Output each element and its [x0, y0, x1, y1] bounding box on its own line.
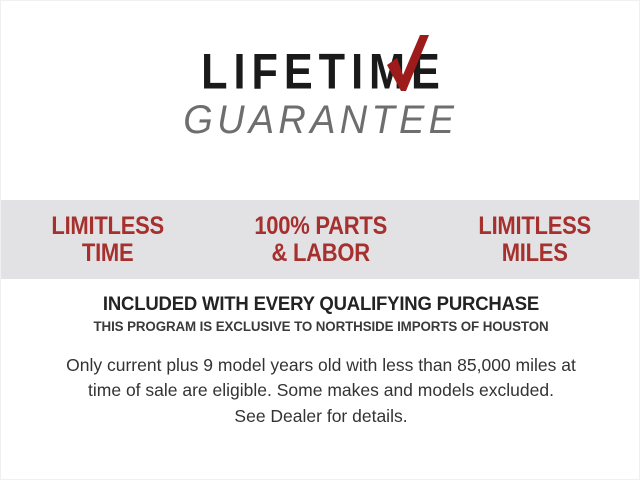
logo-lockup: LIFETIME GUARANTEE [176, 49, 465, 140]
feature-band: LIMITLESS TIME 100% PARTS & LABOR LIMITL… [1, 200, 640, 279]
promo-text-block: INCLUDED WITH EVERY QUALIFYING PURCHASE … [1, 293, 640, 429]
feature-line-2: & LABOR [227, 240, 415, 267]
feature-limitless-time: LIMITLESS TIME [14, 213, 202, 267]
fineprint-line: time of sale are eligible. Some makes an… [1, 378, 640, 403]
feature-limitless-miles: LIMITLESS MILES [440, 213, 628, 267]
fineprint-line: See Dealer for details. [1, 404, 640, 429]
logo-guarantee-text: GUARANTEE [184, 100, 459, 140]
lifetime-guarantee-ad: LIFETIME GUARANTEE LIMITLESS TIME 100% P… [0, 0, 640, 480]
promo-headline: INCLUDED WITH EVERY QUALIFYING PURCHASE [17, 293, 625, 316]
feature-line-1: LIMITLESS [14, 213, 202, 240]
feature-line-2: MILES [440, 240, 628, 267]
promo-fineprint: Only current plus 9 model years old with… [1, 353, 640, 429]
fineprint-line: Only current plus 9 model years old with… [1, 353, 640, 378]
promo-subheadline: THIS PROGRAM IS EXCLUSIVE TO NORTHSIDE I… [20, 319, 622, 335]
feature-line-2: TIME [14, 240, 202, 267]
feature-line-1: LIMITLESS [440, 213, 628, 240]
feature-parts-and-labor: 100% PARTS & LABOR [227, 213, 415, 267]
logo-lifetime-text: LIFETIME [188, 46, 454, 96]
logo-block: LIFETIME GUARANTEE [1, 49, 640, 140]
feature-line-1: 100% PARTS [227, 213, 415, 240]
